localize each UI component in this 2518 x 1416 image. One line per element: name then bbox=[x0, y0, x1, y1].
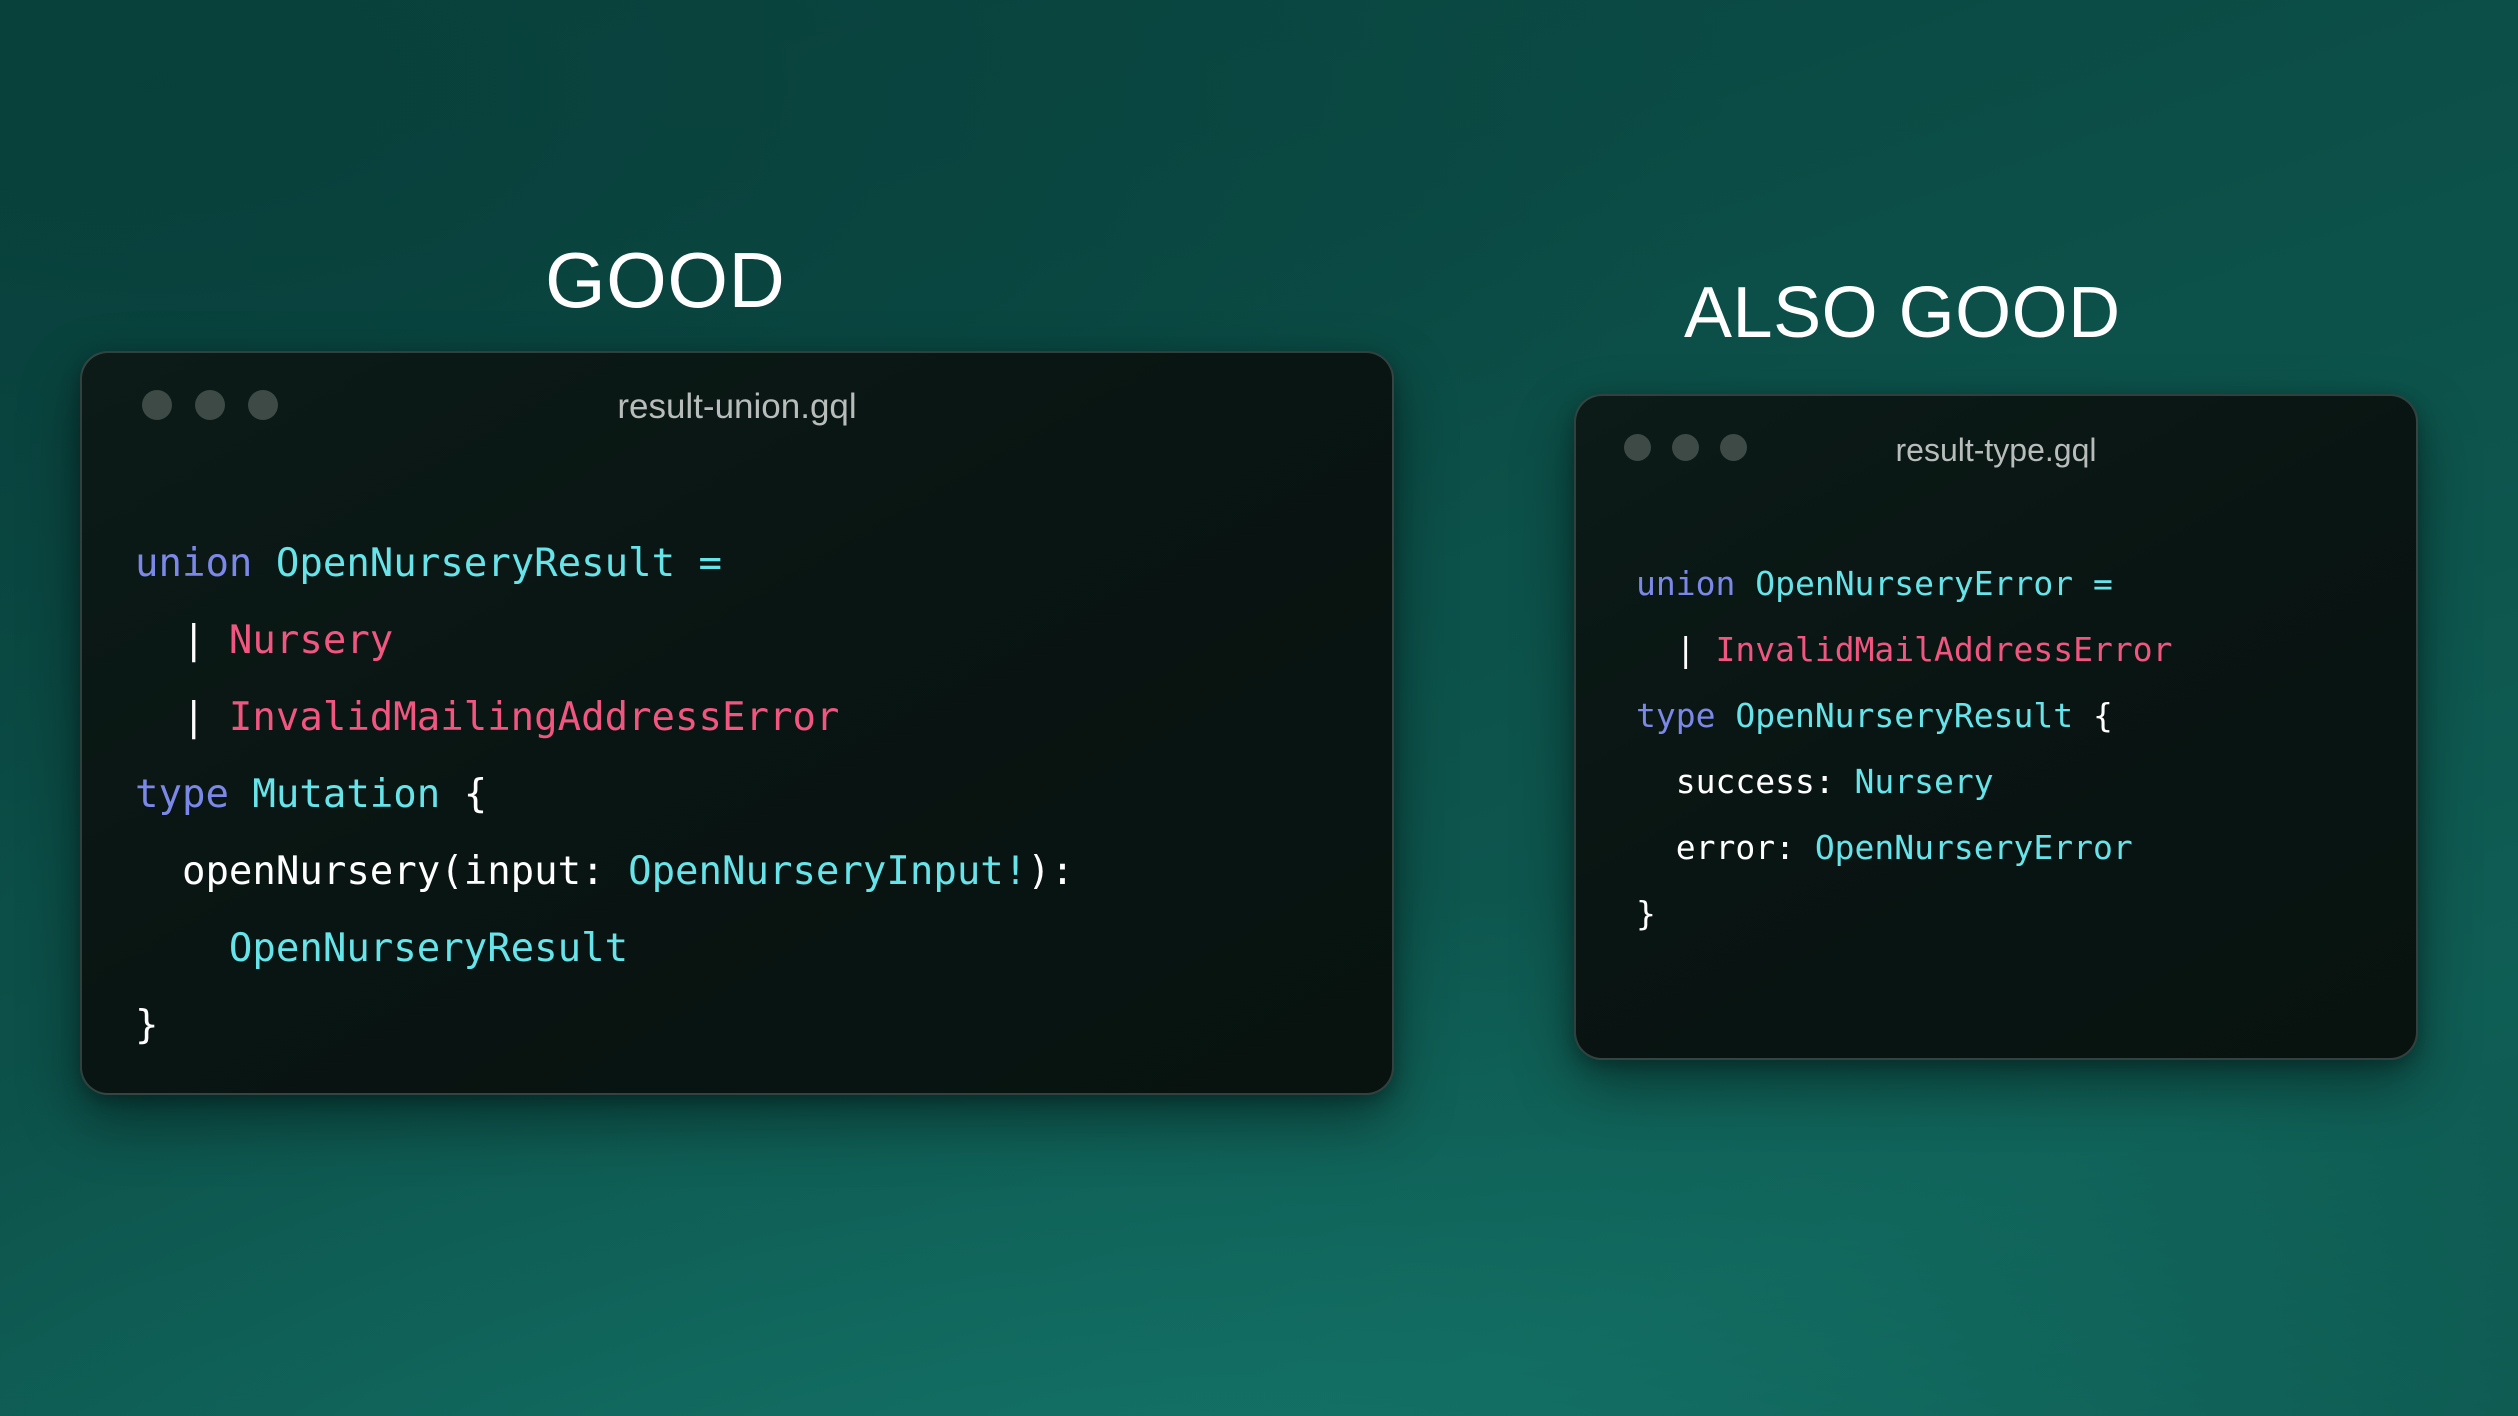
code-token-type: OpenNurseryError bbox=[1755, 564, 2093, 603]
heading-also-good: ALSO GOOD bbox=[1684, 277, 2121, 349]
code-token-plain: } bbox=[135, 1003, 158, 1048]
code-token-pipe: | bbox=[1636, 630, 1715, 669]
code-line: OpenNurseryResult bbox=[135, 910, 1074, 987]
code-token-plain: openNursery(input: bbox=[135, 849, 628, 894]
code-token-union: Nursery bbox=[229, 618, 393, 663]
code-line: type Mutation { bbox=[135, 756, 1074, 833]
code-line: success: Nursery bbox=[1636, 749, 2172, 815]
code-token-plain: success: bbox=[1636, 762, 1855, 801]
slide-canvas: GOOD result-union.gql union OpenNurseryR… bbox=[0, 0, 2518, 1416]
code-line: union OpenNurseryError = bbox=[1636, 551, 2172, 617]
code-token-type: Mutation bbox=[252, 772, 463, 817]
code-token-keyword: union bbox=[1636, 564, 1755, 603]
code-line: union OpenNurseryResult = bbox=[135, 525, 1074, 602]
code-token-type: = bbox=[699, 541, 722, 586]
filename-label-also-good: result-type.gql bbox=[1576, 432, 2416, 469]
code-token-type: Nursery bbox=[1855, 762, 1994, 801]
code-line: openNursery(input: OpenNurseryInput!): bbox=[135, 833, 1074, 910]
code-token-keyword: union bbox=[135, 541, 276, 586]
code-token-type: OpenNurseryInput! bbox=[628, 849, 1027, 894]
titlebar-also-good: result-type.gql bbox=[1576, 396, 2416, 488]
code-line: } bbox=[135, 987, 1074, 1064]
code-token-plain: { bbox=[2093, 696, 2113, 735]
code-token-union: InvalidMailingAddressError bbox=[229, 695, 839, 740]
heading-good: GOOD bbox=[545, 241, 785, 319]
code-block-also-good: union OpenNurseryError = | InvalidMailAd… bbox=[1636, 551, 2172, 947]
titlebar-good: result-union.gql bbox=[82, 353, 1392, 449]
code-token-plain: error: bbox=[1636, 828, 1815, 867]
code-token-plain: { bbox=[464, 772, 487, 817]
code-line: | InvalidMailingAddressError bbox=[135, 679, 1074, 756]
code-block-good: union OpenNurseryResult = | Nursery | In… bbox=[135, 525, 1074, 1064]
code-token-type: OpenNurseryResult bbox=[1735, 696, 2093, 735]
code-token-plain: } bbox=[1636, 894, 1656, 933]
code-token-keyword: type bbox=[1636, 696, 1735, 735]
code-token-type: = bbox=[2093, 564, 2113, 603]
code-line: | InvalidMailAddressError bbox=[1636, 617, 2172, 683]
code-window-also-good: result-type.gql union OpenNurseryError =… bbox=[1574, 394, 2418, 1060]
code-token-pipe: | bbox=[135, 618, 229, 663]
code-line: type OpenNurseryResult { bbox=[1636, 683, 2172, 749]
code-line: error: OpenNurseryError bbox=[1636, 815, 2172, 881]
filename-label-good: result-union.gql bbox=[82, 387, 1392, 427]
code-token-plain: ): bbox=[1027, 849, 1074, 894]
code-line: | Nursery bbox=[135, 602, 1074, 679]
code-token-plain bbox=[135, 926, 229, 971]
code-token-type: OpenNurseryResult bbox=[276, 541, 699, 586]
code-line: } bbox=[1636, 881, 2172, 947]
code-token-type: OpenNurseryResult bbox=[229, 926, 628, 971]
code-token-union: InvalidMailAddressError bbox=[1715, 630, 2172, 669]
code-token-type: OpenNurseryError bbox=[1815, 828, 2133, 867]
code-token-pipe: | bbox=[135, 695, 229, 740]
code-token-keyword: type bbox=[135, 772, 252, 817]
